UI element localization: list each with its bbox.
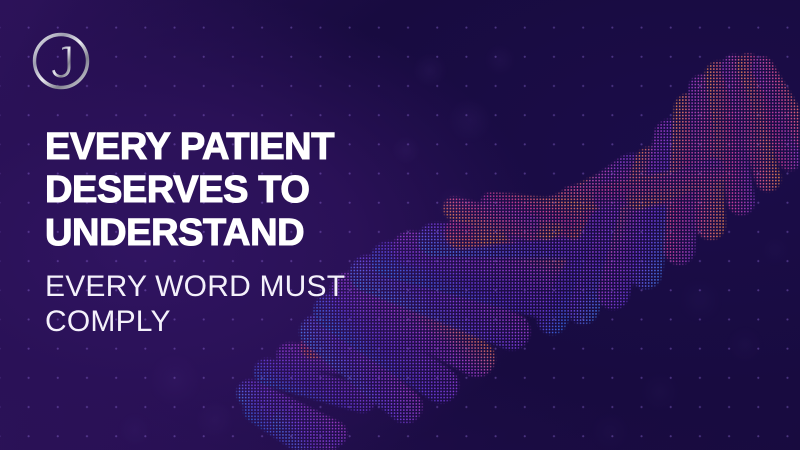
j-monogram-circle-logo xyxy=(30,30,92,92)
brand-logo[interactable] xyxy=(30,30,92,92)
hero-subtitle: EVERY WORD MUST COMPLY xyxy=(45,269,475,339)
page-title: EVERY PATIENT DESERVES TO UNDERSTAND xyxy=(45,126,475,255)
hero-copy: EVERY PATIENT DESERVES TO UNDERSTAND EVE… xyxy=(45,126,475,339)
hero-banner: EVERY PATIENT DESERVES TO UNDERSTAND EVE… xyxy=(0,0,800,450)
